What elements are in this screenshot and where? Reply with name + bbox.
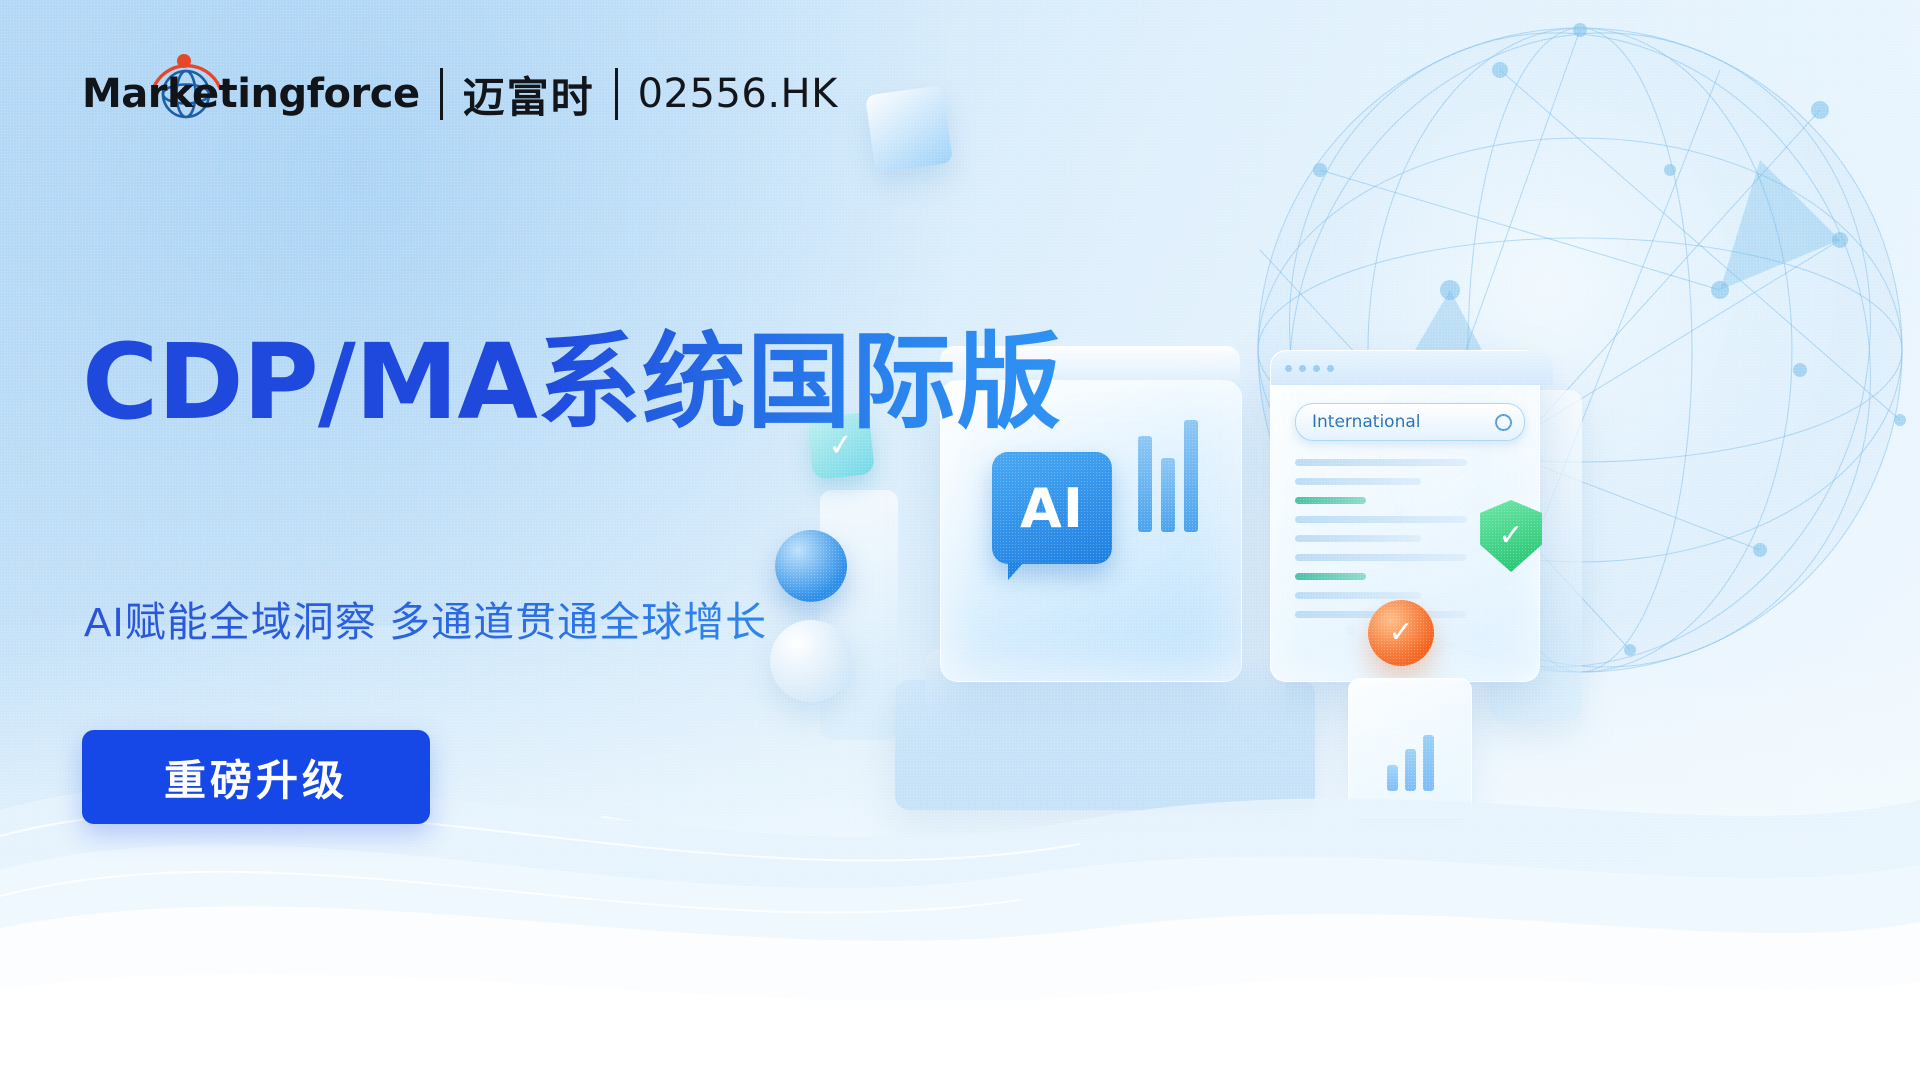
stock-code: 02556.HK bbox=[638, 71, 838, 117]
logo-mark: Marketingforce bbox=[82, 62, 420, 126]
headline-cn: 系统国际版 bbox=[537, 325, 1062, 441]
background-texture bbox=[0, 0, 1920, 1080]
upgrade-cta-button[interactable]: 重磅升级 bbox=[82, 730, 430, 824]
brand-logo-bar[interactable]: Marketingforce 迈富时 02556.HK bbox=[82, 62, 838, 126]
upgrade-cta-label: 重磅升级 bbox=[164, 747, 348, 808]
marketing-banner: ✓ AI International ✓ ✓ bbox=[0, 0, 1920, 1080]
subtitle: AI赋能全域洞察 多通道贯通全球增长 bbox=[84, 588, 767, 648]
logo-divider-1 bbox=[440, 68, 443, 120]
page-title: CDP/MA系统国际版 bbox=[82, 330, 1062, 435]
brand-wordmark: Marketingforce bbox=[82, 71, 420, 117]
logo-divider-2 bbox=[615, 68, 618, 120]
headline-en: CDP/MA bbox=[82, 321, 537, 443]
brand-name-cn: 迈富时 bbox=[463, 64, 595, 125]
